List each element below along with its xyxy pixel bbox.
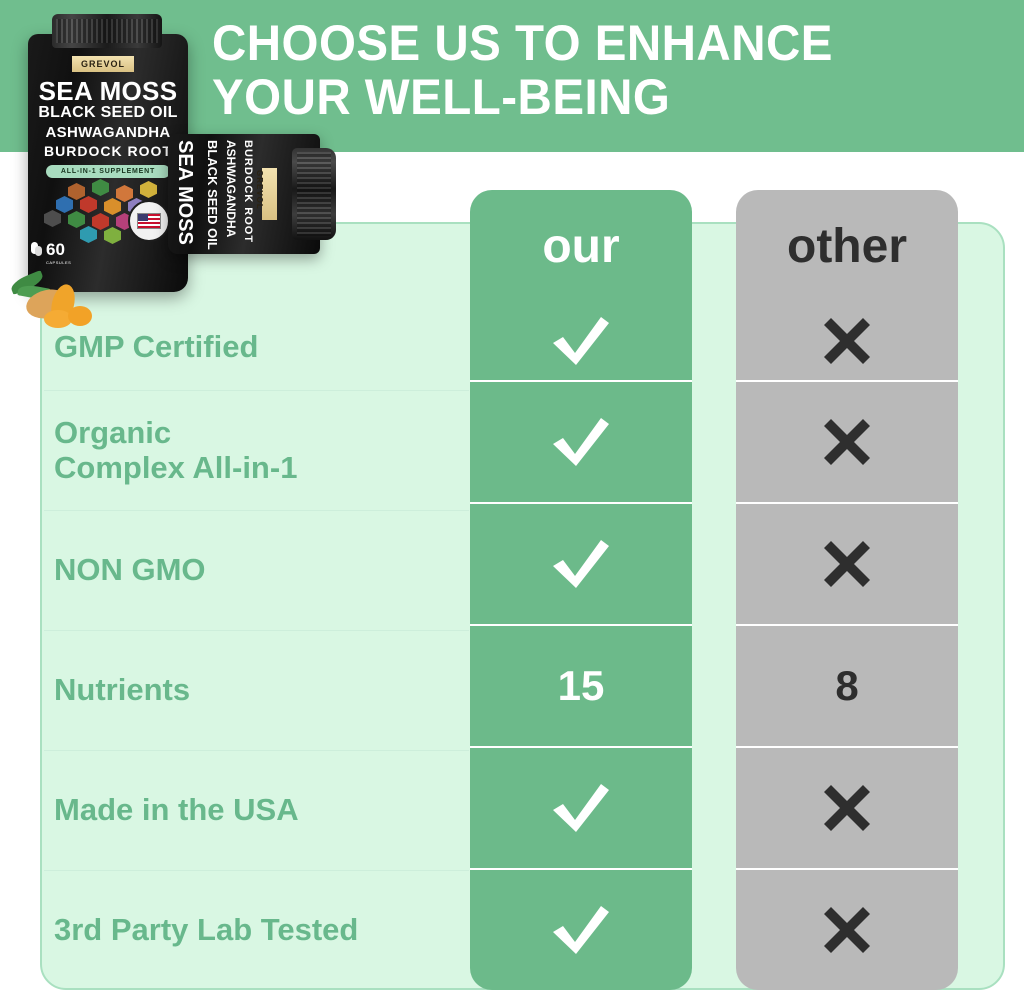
page-title: CHOOSE US TO ENHANCE YOUR WELL-BEING [212,16,972,124]
feature-label-text: GMP Certified [54,329,258,364]
hex-icon-1 [68,183,85,200]
feature-label-5: 3rd Party Lab Tested [54,870,464,990]
feature-label-text: Nutrients [54,672,190,707]
feature-label-1: Organic Complex All-in-1 [54,390,464,510]
hex-icon-6 [80,196,97,213]
feature-label-text: NON GMO [54,552,206,587]
cell-our-1 [470,380,692,502]
cell-our-0 [470,302,692,380]
hex-icon-3 [116,185,133,202]
feature-label-0: GMP Certified [54,304,464,390]
check-icon [549,315,613,367]
cell-other-4 [736,746,958,868]
other-nutrients-count: 8 [835,662,858,710]
hex-icon-7 [104,198,121,215]
close-icon [824,419,870,465]
feature-label-3: Nutrients [54,630,464,750]
close-icon [824,907,870,953]
check-icon [549,904,613,956]
cell-our-2 [470,502,692,624]
feature-label-text: 3rd Party Lab Tested [54,912,358,947]
brand-label-side: GREVOL [262,168,277,220]
close-icon [824,785,870,831]
hex-icon-2 [92,179,109,196]
product-subtitle: ALL-IN-1 SUPPLEMENT [46,165,170,178]
cell-other-2 [736,502,958,624]
feature-label-4: Made in the USA [54,750,464,870]
cell-other-0 [736,302,958,380]
column-other-header: other [736,190,958,302]
check-icon [549,416,613,468]
page-title-line-1: CHOOSE US TO ENHANCE [212,15,833,71]
page-title-line-2: YOUR WELL-BEING [212,70,972,124]
check-icon [549,782,613,834]
header-banner: CHOOSE US TO ENHANCE YOUR WELL-BEING [0,0,1024,152]
hex-icon-4 [140,181,157,198]
close-icon [824,541,870,587]
column-our[interactable]: our 15 [470,190,692,990]
column-our-header: our [470,190,692,302]
check-icon [549,538,613,590]
close-icon [824,318,870,364]
cell-our-4 [470,746,692,868]
brand-label-side-text: GREVOL [255,170,264,210]
feature-label-column: GMP CertifiedOrganic Complex All-in-1NON… [44,224,464,988]
hex-icon-8 [128,198,145,215]
feature-label-2: NON GMO [54,510,464,630]
column-other[interactable]: other 8 [736,190,958,990]
cell-our-5 [470,868,692,990]
hex-icon-5 [56,196,73,213]
cell-other-5 [736,868,958,990]
feature-label-text: Organic Complex All-in-1 [54,415,297,486]
cell-our-3: 15 [470,624,692,746]
cell-other-3: 8 [736,624,958,746]
cell-other-1 [736,380,958,502]
our-nutrients-count: 15 [558,662,605,710]
feature-label-text: Made in the USA [54,792,299,827]
